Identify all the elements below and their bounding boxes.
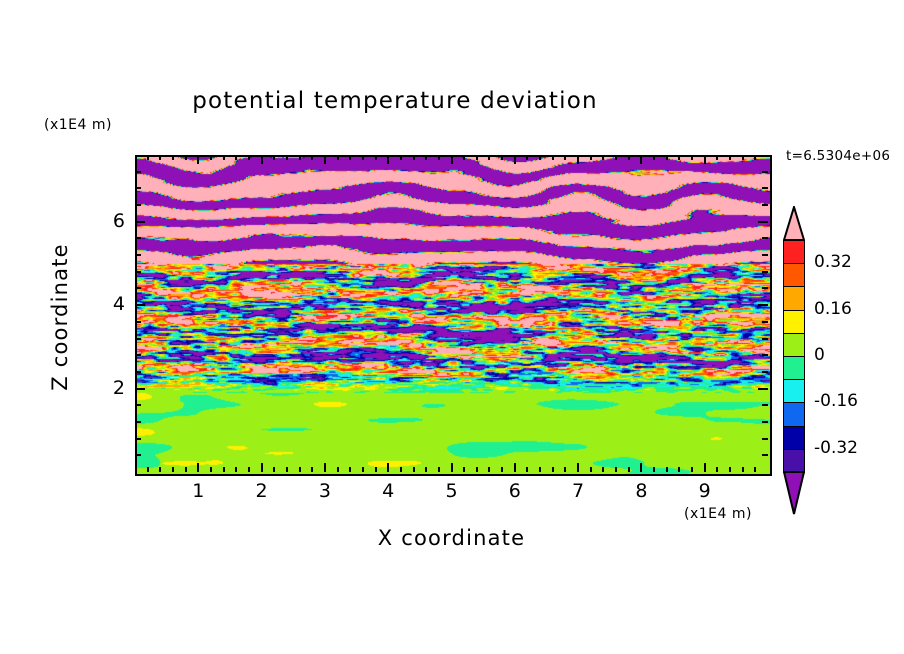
x-minor-tick (223, 467, 225, 472)
x-minor-tick (729, 467, 731, 472)
x-minor-tick-top (223, 155, 225, 160)
x-minor-tick-top (362, 155, 364, 160)
x-minor-tick (400, 467, 402, 472)
x-minor-tick-top (425, 155, 427, 160)
colorbar-band (783, 263, 805, 288)
x-minor-tick (526, 467, 528, 472)
x-axis-title: X coordinate (135, 526, 768, 550)
x-minor-tick (375, 467, 377, 472)
x-minor-tick-top (602, 155, 604, 160)
y-tick-label: 2 (85, 377, 125, 399)
x-minor-tick (602, 467, 604, 472)
y-minor-tick-right (762, 421, 768, 423)
y-major-tick-right (758, 221, 768, 223)
y-minor-tick (135, 454, 141, 456)
x-minor-tick (362, 467, 364, 472)
x-minor-tick (311, 467, 313, 472)
y-minor-tick (135, 287, 141, 289)
x-minor-tick (615, 467, 617, 472)
x-minor-tick (552, 467, 554, 472)
page-title: potential temperature deviation (0, 88, 790, 114)
x-major-tick-top (704, 155, 706, 164)
x-minor-tick-top (716, 155, 718, 160)
x-minor-tick (210, 467, 212, 472)
y-minor-tick-right (762, 404, 768, 406)
x-minor-tick (488, 467, 490, 472)
colorbar-tick-label: 0.16 (814, 299, 852, 319)
x-minor-tick-top (185, 155, 187, 160)
x-major-tick-top (514, 155, 516, 164)
x-tick-label: 9 (685, 480, 725, 502)
y-minor-tick (135, 204, 141, 206)
x-minor-tick-top (552, 155, 554, 160)
x-minor-tick-top (337, 155, 339, 160)
y-major-tick (135, 221, 145, 223)
colorbar-band (783, 286, 805, 311)
y-minor-tick-right (762, 271, 768, 273)
x-minor-tick-top (400, 155, 402, 160)
x-minor-tick (754, 467, 756, 472)
x-minor-tick-top (729, 155, 731, 160)
x-minor-tick (248, 467, 250, 472)
x-minor-tick-top (413, 155, 415, 160)
x-major-tick-top (451, 155, 453, 164)
x-minor-tick (666, 467, 668, 472)
colorbar-band (783, 449, 805, 474)
y-axis-title: Z coordinate (48, 237, 72, 397)
x-minor-tick-top (248, 155, 250, 160)
x-tick-label: 4 (368, 480, 408, 502)
x-minor-tick (337, 467, 339, 472)
x-minor-tick (678, 467, 680, 472)
x-major-tick (387, 463, 389, 472)
x-minor-tick (501, 467, 503, 472)
colorbar (783, 240, 805, 472)
y-major-tick-right (758, 388, 768, 390)
y-minor-tick-right (762, 204, 768, 206)
y-tick-label: 4 (85, 293, 125, 315)
x-major-tick-top (324, 155, 326, 164)
x-minor-tick (438, 467, 440, 472)
x-tick-label: 8 (621, 480, 661, 502)
x-major-tick-top (577, 155, 579, 164)
x-minor-tick (185, 467, 187, 472)
colorbar-band (783, 379, 805, 404)
x-minor-tick-top (311, 155, 313, 160)
y-minor-tick (135, 421, 141, 423)
y-tick-label: 6 (85, 210, 125, 232)
x-major-tick (324, 463, 326, 472)
x-major-tick (704, 463, 706, 472)
x-minor-tick (590, 467, 592, 472)
y-minor-tick-right (762, 354, 768, 356)
colorbar-band (783, 426, 805, 451)
y-minor-tick-right (762, 321, 768, 323)
x-tick-label: 1 (178, 480, 218, 502)
y-minor-tick (135, 354, 141, 356)
x-minor-tick-top (564, 155, 566, 160)
y-minor-tick (135, 404, 141, 406)
x-major-tick (451, 463, 453, 472)
y-minor-tick (135, 187, 141, 189)
colorbar-band (783, 356, 805, 381)
x-major-tick (640, 463, 642, 472)
x-minor-tick-top (476, 155, 478, 160)
x-minor-tick (564, 467, 566, 472)
x-minor-tick-top (539, 155, 541, 160)
x-minor-tick-top (488, 155, 490, 160)
x-major-tick (577, 463, 579, 472)
x-minor-tick (463, 467, 465, 472)
colorbar-band (783, 333, 805, 358)
x-minor-tick-top (210, 155, 212, 160)
x-major-tick-top (261, 155, 263, 164)
y-minor-tick-right (762, 338, 768, 340)
x-major-tick-top (387, 155, 389, 164)
x-minor-tick-top (526, 155, 528, 160)
x-minor-tick-top (754, 155, 756, 160)
colorbar-band (783, 402, 805, 427)
y-minor-tick (135, 171, 141, 173)
y-minor-tick-right (762, 171, 768, 173)
y-major-tick (135, 388, 145, 390)
x-major-tick (514, 463, 516, 472)
colorbar-over-arrow (783, 206, 805, 241)
x-tick-label: 6 (495, 480, 535, 502)
colorbar-band (783, 310, 805, 335)
x-minor-tick-top (678, 155, 680, 160)
y-minor-tick (135, 254, 141, 256)
x-minor-tick (273, 467, 275, 472)
x-minor-tick-top (628, 155, 630, 160)
x-axis-unit-label: (x1E4 m) (684, 506, 752, 522)
x-minor-tick-top (691, 155, 693, 160)
x-minor-tick (425, 467, 427, 472)
figure-canvas: potential temperature deviation (x1E4 m)… (0, 0, 904, 654)
x-minor-tick-top (438, 155, 440, 160)
y-major-tick (135, 304, 145, 306)
y-minor-tick-right (762, 187, 768, 189)
x-minor-tick (539, 467, 541, 472)
x-minor-tick-top (375, 155, 377, 160)
colorbar-tick-label: 0.32 (814, 252, 852, 272)
x-minor-tick-top (147, 155, 149, 160)
time-stamp-annotation: t=6.5304e+06 (786, 148, 890, 164)
x-minor-tick-top (172, 155, 174, 160)
x-minor-tick (653, 467, 655, 472)
x-minor-tick (147, 467, 149, 472)
x-minor-tick-top (273, 155, 275, 160)
y-minor-tick (135, 371, 141, 373)
colorbar-under-arrow (783, 471, 805, 515)
x-minor-tick (172, 467, 174, 472)
x-tick-label: 7 (558, 480, 598, 502)
x-minor-tick (286, 467, 288, 472)
x-minor-tick-top (349, 155, 351, 160)
y-minor-tick-right (762, 237, 768, 239)
y-minor-tick (135, 438, 141, 440)
x-minor-tick (349, 467, 351, 472)
colorbar-tick-label: -0.16 (814, 391, 858, 411)
colorbar-tick-label: 0 (814, 345, 825, 365)
x-minor-tick-top (653, 155, 655, 160)
plot-area (135, 155, 772, 476)
y-minor-tick-right (762, 454, 768, 456)
y-major-tick-right (758, 304, 768, 306)
x-major-tick (197, 463, 199, 472)
x-minor-tick (476, 467, 478, 472)
x-minor-tick (413, 467, 415, 472)
y-minor-tick-right (762, 371, 768, 373)
y-minor-tick (135, 237, 141, 239)
y-minor-tick (135, 338, 141, 340)
x-minor-tick (628, 467, 630, 472)
x-minor-tick (299, 467, 301, 472)
y-minor-tick-right (762, 438, 768, 440)
contour-field (137, 157, 770, 474)
x-major-tick-top (197, 155, 199, 164)
y-axis-unit-label: (x1E4 m) (44, 117, 112, 133)
x-minor-tick-top (463, 155, 465, 160)
x-minor-tick-top (742, 155, 744, 160)
x-minor-tick (691, 467, 693, 472)
y-minor-tick (135, 271, 141, 273)
x-minor-tick-top (615, 155, 617, 160)
x-minor-tick (742, 467, 744, 472)
x-major-tick-top (640, 155, 642, 164)
x-minor-tick-top (235, 155, 237, 160)
x-minor-tick (716, 467, 718, 472)
x-minor-tick-top (590, 155, 592, 160)
x-minor-tick-top (159, 155, 161, 160)
y-minor-tick (135, 321, 141, 323)
x-tick-label: 3 (305, 480, 345, 502)
x-tick-label: 5 (432, 480, 472, 502)
y-minor-tick-right (762, 254, 768, 256)
x-major-tick (261, 463, 263, 472)
colorbar-band (783, 240, 805, 265)
colorbar-tick-label: -0.32 (814, 438, 858, 458)
y-minor-tick-right (762, 287, 768, 289)
x-minor-tick (159, 467, 161, 472)
x-minor-tick-top (299, 155, 301, 160)
x-minor-tick-top (666, 155, 668, 160)
x-minor-tick-top (286, 155, 288, 160)
x-minor-tick-top (501, 155, 503, 160)
x-tick-label: 2 (242, 480, 282, 502)
x-minor-tick (235, 467, 237, 472)
